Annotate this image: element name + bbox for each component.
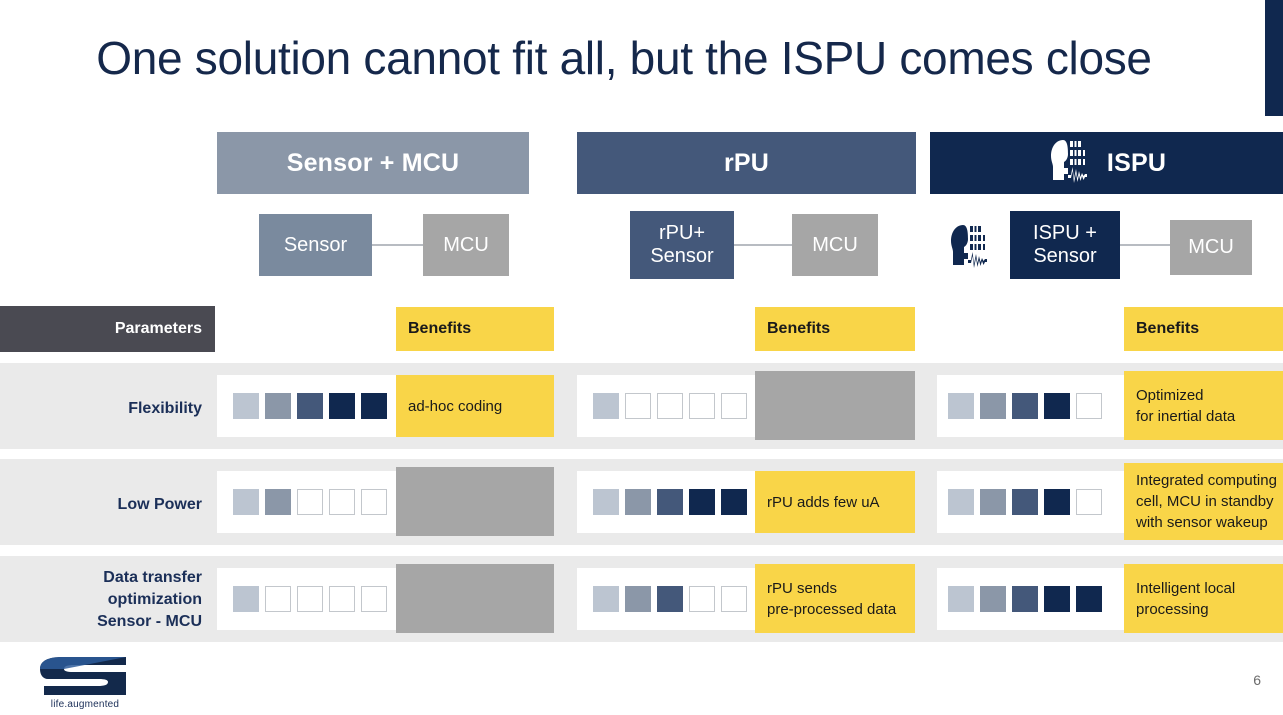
- page-number: 6: [1253, 672, 1261, 688]
- diagram-box-line: ISPU +: [1033, 222, 1097, 245]
- benefit-line: Integrated computing: [1136, 472, 1277, 489]
- rating-square: [593, 489, 619, 515]
- rating-square-empty: [657, 393, 683, 419]
- diagram-box-rpu-sensor: rPU+ Sensor: [630, 211, 734, 279]
- diagram-box-line: rPU+: [659, 222, 705, 245]
- rating-square: [625, 586, 651, 612]
- page-title: One solution cannot fit all, but the ISP…: [0, 30, 1248, 86]
- benefit-line: Intelligent local: [1136, 580, 1235, 597]
- diagram-ispu: ISPU + Sensor MCU: [930, 206, 1283, 294]
- benefit-cell: Intelligent local processing: [1124, 564, 1283, 633]
- rating-square: [233, 393, 259, 419]
- rating-cell: [937, 471, 1124, 533]
- column-header-rpu: rPU: [577, 132, 916, 194]
- row-label-line: Data transfer: [0, 567, 202, 589]
- rating-square: [657, 586, 683, 612]
- rating-square: [593, 393, 619, 419]
- column-header-sensor-mcu: Sensor + MCU: [217, 132, 529, 194]
- row-label-data-transfer: Data transfer optimization Sensor - MCU: [0, 567, 215, 633]
- diagram-box-mcu: MCU: [792, 214, 878, 276]
- rating-cell: [217, 568, 396, 630]
- rating-square: [1012, 586, 1038, 612]
- benefit-line: with sensor wakeup: [1136, 514, 1268, 531]
- st-logo: [34, 655, 134, 702]
- rating-square: [233, 586, 259, 612]
- ispu-face-binary-icon: [947, 222, 991, 273]
- diagram-box-line: Sensor: [650, 245, 713, 268]
- rating-square: [593, 586, 619, 612]
- rating-square-empty: [1076, 393, 1102, 419]
- rating-square-empty: [329, 586, 355, 612]
- rating-square-empty: [721, 586, 747, 612]
- rating-cell: [577, 375, 755, 437]
- rating-cell: [577, 568, 755, 630]
- rating-square: [297, 393, 323, 419]
- accent-bar: [1265, 0, 1283, 116]
- rating-square-empty: [265, 586, 291, 612]
- rating-cell: [937, 375, 1124, 437]
- rating-square: [721, 489, 747, 515]
- rating-square-empty: [361, 586, 387, 612]
- rating-square: [948, 393, 974, 419]
- rating-cell: [217, 375, 396, 437]
- column-header-label: Sensor + MCU: [287, 149, 460, 178]
- benefits-header-sensor-mcu: Benefits: [396, 307, 554, 351]
- diagram-box-mcu: MCU: [1170, 220, 1252, 275]
- benefit-line: rPU adds few uA: [767, 494, 880, 511]
- row-label-line: Sensor - MCU: [0, 611, 202, 633]
- column-header-label: ISPU: [1107, 149, 1166, 178]
- rating-square: [233, 489, 259, 515]
- benefit-cell: ad-hoc coding: [396, 375, 554, 437]
- rating-square: [657, 489, 683, 515]
- rating-square-empty: [329, 489, 355, 515]
- rating-square: [265, 489, 291, 515]
- rating-square-empty: [689, 393, 715, 419]
- diagram-box-mcu: MCU: [423, 214, 509, 276]
- benefit-cell-empty: [396, 564, 554, 633]
- rating-square: [948, 586, 974, 612]
- st-tagline: life.augmented: [30, 699, 140, 710]
- row-label-low-power: Low Power: [0, 494, 215, 516]
- rating-square: [980, 586, 1006, 612]
- diagram-box-line: Sensor: [1033, 245, 1096, 268]
- benefits-header-rpu: Benefits: [755, 307, 915, 351]
- benefit-line: processing: [1136, 601, 1209, 618]
- rating-cell: [577, 471, 755, 533]
- rating-square: [1012, 489, 1038, 515]
- benefit-line: pre-processed data: [767, 601, 896, 618]
- rating-square-empty: [1076, 489, 1102, 515]
- row-label-flexibility: Flexibility: [0, 398, 215, 420]
- benefit-line: Optimized: [1136, 387, 1204, 404]
- benefit-cell-empty: [396, 467, 554, 536]
- rating-square-empty: [297, 586, 323, 612]
- benefit-cell: rPU sends pre-processed data: [755, 564, 915, 633]
- rating-square: [1044, 489, 1070, 515]
- benefit-cell: rPU adds few uA: [755, 471, 915, 533]
- rating-square: [980, 393, 1006, 419]
- rating-square: [980, 489, 1006, 515]
- ispu-face-binary-icon: [1047, 137, 1091, 190]
- rating-square-empty: [297, 489, 323, 515]
- rating-cell: [937, 568, 1124, 630]
- rating-cell: [217, 471, 396, 533]
- rating-square: [1044, 586, 1070, 612]
- benefits-header-ispu: Benefits: [1124, 307, 1283, 351]
- rating-square: [265, 393, 291, 419]
- rating-square-empty: [361, 489, 387, 515]
- column-header-label: rPU: [724, 149, 769, 178]
- row-label-line: optimization: [0, 589, 202, 611]
- diagram-rpu: rPU+ Sensor MCU: [577, 206, 916, 294]
- benefit-cell: Integrated computing cell, MCU in standb…: [1124, 463, 1283, 540]
- footer-divider: [0, 648, 1283, 649]
- parameters-header: Parameters: [0, 306, 215, 352]
- rating-square: [329, 393, 355, 419]
- benefit-line: rPU sends: [767, 580, 837, 597]
- rating-square-empty: [625, 393, 651, 419]
- rating-square: [625, 489, 651, 515]
- benefit-line: for inertial data: [1136, 408, 1235, 425]
- diagram-sensor-mcu: Sensor MCU: [217, 206, 529, 294]
- benefit-line: cell, MCU in standby: [1136, 493, 1274, 510]
- slide-canvas: One solution cannot fit all, but the ISP…: [0, 0, 1283, 715]
- rating-square: [1044, 393, 1070, 419]
- rating-square: [1012, 393, 1038, 419]
- rating-square-empty: [721, 393, 747, 419]
- rating-square: [1076, 586, 1102, 612]
- diagram-box-ispu-sensor: ISPU + Sensor: [1010, 211, 1120, 279]
- rating-square: [689, 489, 715, 515]
- rating-square: [361, 393, 387, 419]
- column-header-ispu: ISPU: [930, 132, 1283, 194]
- benefit-cell: Optimized for inertial data: [1124, 371, 1283, 440]
- benefit-cell-empty: [755, 371, 915, 440]
- rating-square-empty: [689, 586, 715, 612]
- benefit-line: ad-hoc coding: [408, 398, 502, 415]
- diagram-box-sensor: Sensor: [259, 214, 372, 276]
- rating-square: [948, 489, 974, 515]
- diagram-connector: [1120, 244, 1176, 246]
